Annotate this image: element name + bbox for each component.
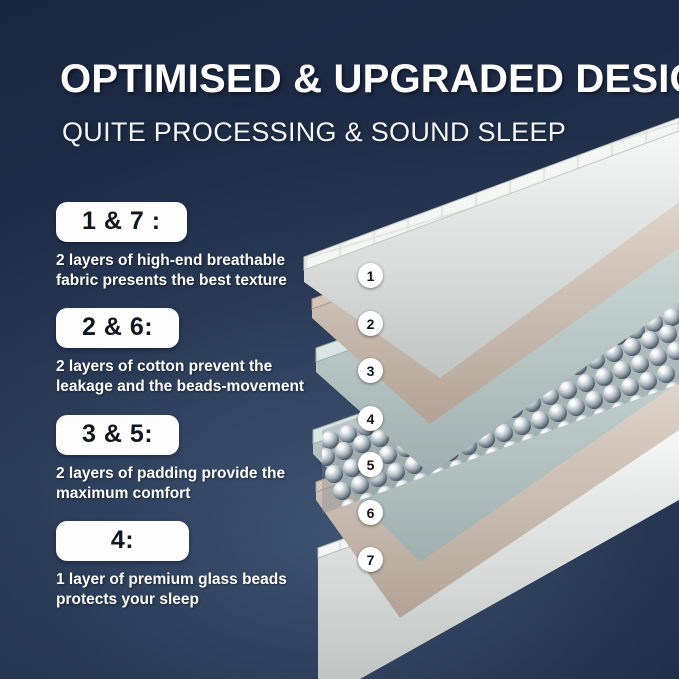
layer-badge-6: 6 (358, 500, 383, 525)
callout-label-2-and-6: 2 & 6: (56, 308, 179, 348)
layer-badge-4: 4 (358, 406, 383, 431)
layer-badge-3: 3 (358, 358, 383, 383)
callout-description-1-and-7: 2 layers of high-end breathable fabric p… (56, 251, 326, 291)
layer-badge-5: 5 (358, 452, 383, 477)
layer-badge-2: 2 (358, 311, 383, 336)
callout-description-4: 1 layer of premium glass beads protects … (56, 570, 326, 610)
callout-4: 4: 1 layer of premium glass beads protec… (56, 521, 326, 610)
callout-1-and-7: 1 & 7 : 2 layers of high-end breathable … (56, 202, 326, 291)
callout-description-3-and-5: 2 layers of padding provide the maximum … (56, 464, 326, 504)
callout-3-and-5: 3 & 5: 2 layers of padding provide the m… (56, 415, 326, 504)
layer-badge-1: 1 (358, 263, 383, 288)
callout-2-and-6: 2 & 6: 2 layers of cotton prevent the le… (56, 308, 326, 397)
callout-label-3-and-5: 3 & 5: (56, 415, 179, 455)
infographic-canvas: OPTIMISED & UPGRADED DESIGN QUITE PROCES… (0, 0, 679, 679)
callout-description-2-and-6: 2 layers of cotton prevent the leakage a… (56, 357, 326, 397)
layer-badge-7: 7 (358, 547, 383, 572)
callout-label-4: 4: (56, 521, 189, 561)
callout-label-1-and-7: 1 & 7 : (56, 202, 187, 242)
